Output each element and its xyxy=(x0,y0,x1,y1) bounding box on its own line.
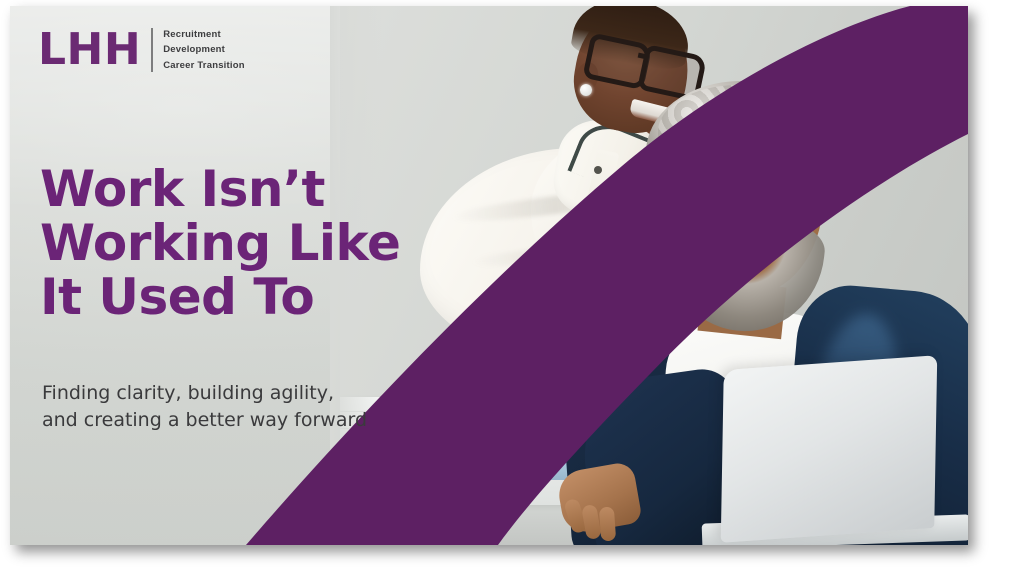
slide-text-panel: LHH Recruitment Development Career Trans… xyxy=(10,6,370,545)
lhh-logo: LHH Recruitment Development Career Trans… xyxy=(38,28,245,72)
logo-tagline-line-2: Development xyxy=(163,43,245,56)
subheadline-line-1: Finding clarity, building agility, xyxy=(42,380,382,407)
screenshot-canvas: LHH Recruitment Development Career Trans… xyxy=(0,0,1024,576)
logo-tagline: Recruitment Development Career Transitio… xyxy=(163,28,245,71)
person-seated-man xyxy=(554,75,968,545)
subheadline-line-2: and creating a better way forward xyxy=(42,407,382,434)
headline-line-3: It Used To xyxy=(40,270,380,324)
headline-line-2: Working Like xyxy=(40,216,380,270)
logo-wordmark: LHH xyxy=(38,28,141,72)
logo-tagline-line-3: Career Transition xyxy=(163,59,245,72)
hero-photo xyxy=(340,6,968,545)
logo-divider xyxy=(151,28,153,72)
logo-tagline-line-1: Recruitment xyxy=(163,28,245,41)
slide-subheadline: Finding clarity, building agility, and c… xyxy=(42,380,382,434)
laptop xyxy=(721,355,937,543)
presentation-slide: LHH Recruitment Development Career Trans… xyxy=(10,6,968,545)
headline-line-1: Work Isn’t xyxy=(40,162,380,216)
slide-headline: Work Isn’t Working Like It Used To xyxy=(40,162,380,324)
